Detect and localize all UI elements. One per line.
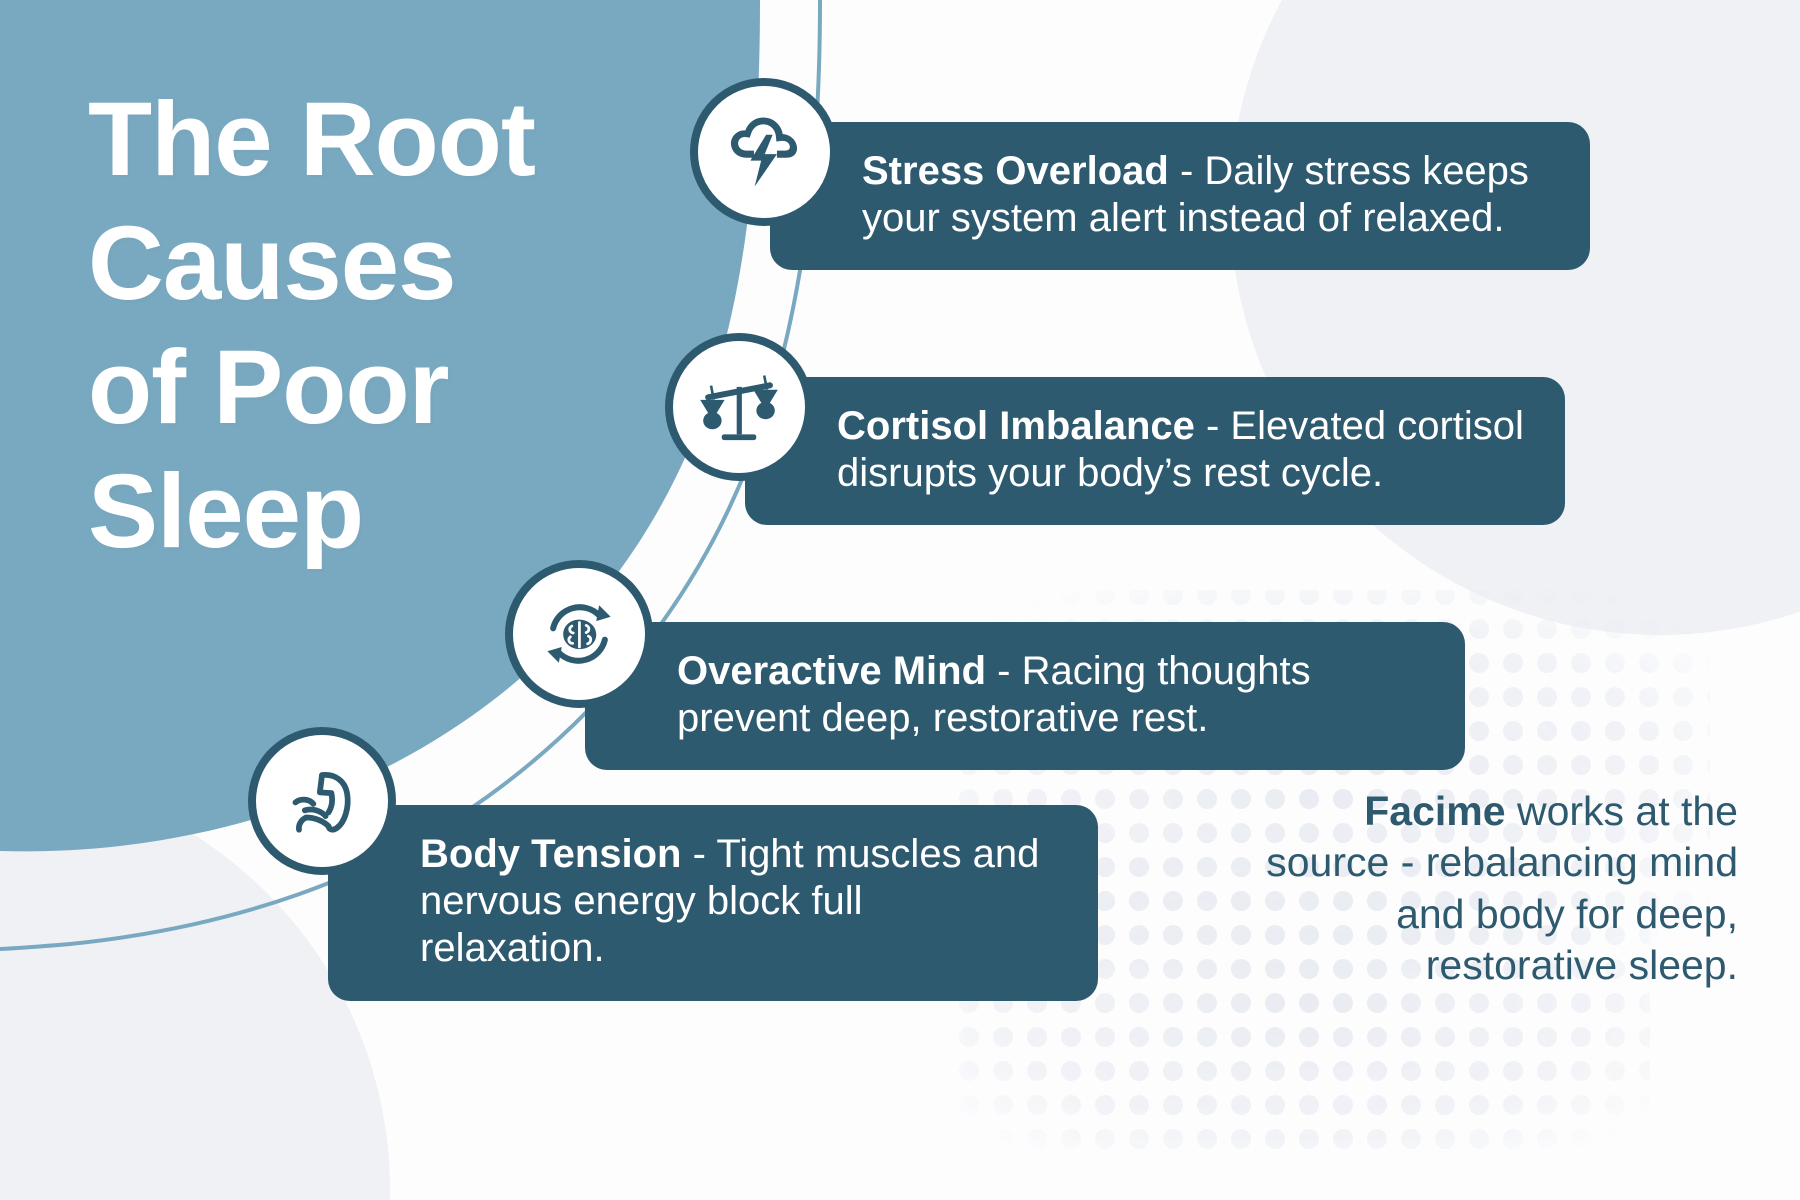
title-line-4: Sleep (88, 450, 728, 574)
cause-card-body-tension: Body Tension - Tight muscles and nervous… (328, 805, 1098, 1001)
cause-item-stress-overload: Stress Overload - Daily stress keeps you… (690, 78, 1590, 270)
cause-dash: - (1169, 149, 1205, 193)
cause-dash: - (1195, 404, 1231, 448)
cause-heading: Body Tension (420, 832, 681, 876)
flexed-bicep-icon (248, 727, 396, 875)
cause-dash: - (986, 649, 1022, 693)
closing-statement: Facime works at the source - rebalancing… (1248, 786, 1738, 991)
title-line-1: The Root (88, 78, 728, 202)
cause-item-cortisol-imbalance: Cortisol Imbalance - Elevated cortisol d… (665, 333, 1565, 525)
title-line-3: of Poor (88, 326, 728, 450)
brain-cycle-icon (505, 560, 653, 708)
title-line-2: Causes (88, 202, 728, 326)
page-title: The Root Causes of Poor Sleep (88, 78, 728, 574)
cause-item-body-tension: Body Tension - Tight muscles and nervous… (248, 727, 1098, 1001)
cause-heading: Cortisol Imbalance (837, 404, 1195, 448)
cause-dash: - (681, 832, 716, 876)
cause-heading: Overactive Mind (677, 649, 986, 693)
cause-heading: Stress Overload (862, 149, 1169, 193)
cause-card-stress-overload: Stress Overload - Daily stress keeps you… (770, 122, 1590, 270)
cause-card-cortisol-imbalance: Cortisol Imbalance - Elevated cortisol d… (745, 377, 1565, 525)
infographic-canvas: The Root Causes of Poor Sleep Stress Ove… (0, 0, 1800, 1200)
brand-name: Facime (1364, 788, 1505, 834)
